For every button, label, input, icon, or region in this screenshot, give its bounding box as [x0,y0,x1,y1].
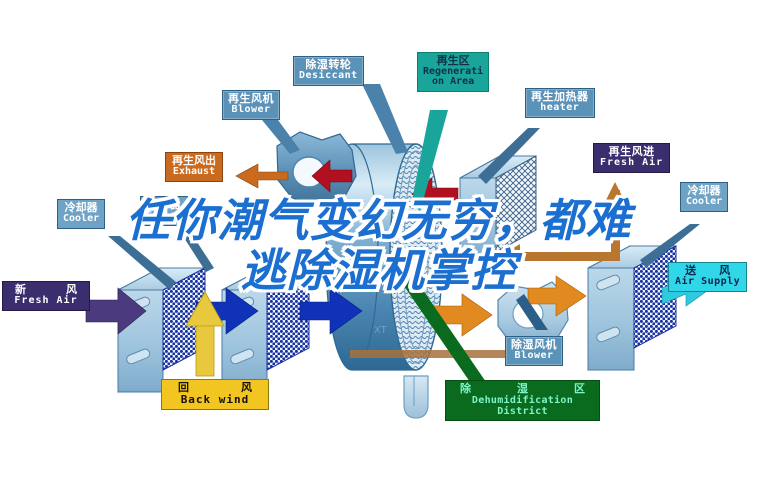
label-cooler-1[interactable]: 冷却器 Cooler [57,199,105,229]
label-regeneration-blower[interactable]: 再生风机 Blower [222,90,280,120]
heater-bottom-leg [350,350,510,358]
label-cooler-2-en: Cooler [146,211,182,222]
label-regeneration-area[interactable]: 再生区 Regenerati on Area [417,52,489,92]
label-desiccant[interactable]: 除湿转轮 Desiccant [293,56,364,86]
label-cooler-2[interactable]: 冷却器 Cooler [140,196,188,226]
label-air-supply-en: Air Supply [675,277,740,288]
diagram-canvas: XT [0,0,757,488]
label-regen-blower-en: Blower [228,105,274,116]
cooler-coil-1 [118,268,205,392]
label-back-wind-en: Back wind [168,394,262,406]
label-fresh-air-en: Fresh Air [9,296,83,307]
label-regen-fresh-en: Fresh Air [600,158,663,169]
label-desiccant-en: Desiccant [299,71,358,82]
svg-text:XT: XT [374,325,388,336]
label-back-wind[interactable]: 回 风 Back wind [161,379,269,410]
regeneration-heater [460,156,536,260]
label-regen-area-en2: on Area [423,77,483,88]
label-fresh-air[interactable]: 新 风 Fresh Air [2,281,90,311]
label-regeneration-heater[interactable]: 再生加热器 heater [525,88,595,118]
label-air-supply[interactable]: 送 风 Air Supply [668,262,747,292]
condensate-scoop [404,376,428,418]
fresh-air-riser [603,182,627,260]
label-dehum-district-en1: Dehumidification [452,395,593,406]
label-dehum-blower-en: Blower [511,351,557,362]
label-dehum-district-cn: 除 湿 区 [452,383,593,395]
label-exhaust-en: Exhaust [172,167,216,178]
dehumidifier-diagram: XT [0,0,757,488]
label-dehumidification-district[interactable]: 除 湿 区 Dehumidification District [445,380,600,421]
label-regeneration-fresh-air[interactable]: 再生风进 Fresh Air [593,143,670,173]
label-heater-en: heater [531,103,589,114]
label-cooler-3-en: Cooler [686,197,722,208]
cooler-coil-2 [222,268,309,392]
label-dehumidification-blower[interactable]: 除湿风机 Blower [505,336,563,366]
label-dehum-district-en2: District [452,406,593,417]
supply-cooler [588,246,676,370]
label-cooler-3[interactable]: 冷却器 Cooler [680,182,728,212]
label-cooler-1-en: Cooler [63,214,99,225]
label-exhaust[interactable]: 再生风出 Exhaust [165,152,223,182]
